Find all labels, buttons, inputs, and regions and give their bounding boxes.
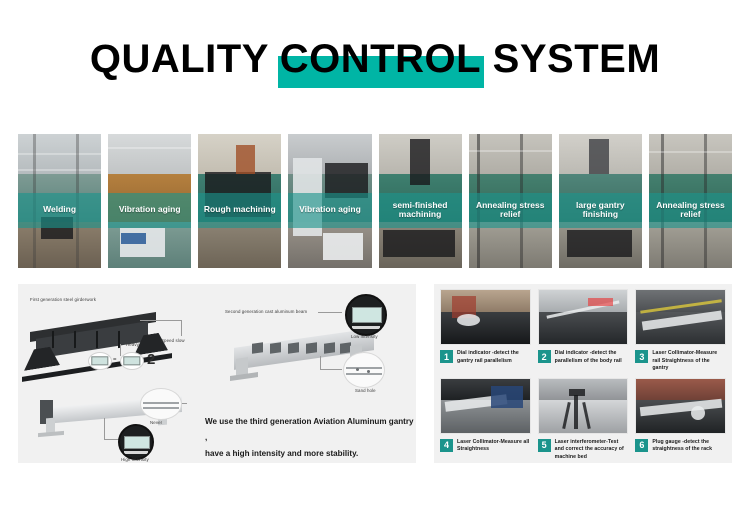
- photo-hoist: [410, 139, 430, 185]
- photo-caption: Vibration aging: [296, 205, 364, 215]
- photo-caption: Annealing stress relief: [649, 201, 732, 221]
- sand-hole-closeup: [343, 352, 385, 388]
- title-before: QUALITY: [90, 37, 280, 81]
- gen1-leader-line: [120, 344, 121, 356]
- process-photo-large-gantry-finishing[interactable]: large gantry finishing: [559, 134, 642, 268]
- rail-line: [143, 402, 180, 404]
- laptop-screen: [491, 386, 523, 408]
- plug-gauge: [691, 406, 705, 420]
- gen1-callout-heavy: Heavy: [126, 342, 139, 348]
- beam-window: [252, 342, 263, 354]
- photo-truss: [649, 151, 732, 153]
- photo-caption-band: Vibration aging: [108, 193, 191, 228]
- photo-marker: [588, 298, 613, 307]
- photo-caption: Annealing stress relief: [469, 201, 552, 221]
- gen3-callout-never: Never: [150, 420, 162, 426]
- inspection-item-2[interactable]: 2 Dial indicator -detect the parallelism…: [538, 289, 629, 373]
- photo-caption: semi-finished machining: [379, 201, 462, 221]
- photo-truss: [18, 153, 101, 155]
- process-photo-annealing-1[interactable]: Annealing stress relief: [469, 134, 552, 268]
- title-after: SYSTEM: [481, 37, 660, 81]
- photo-floor: [469, 222, 552, 268]
- title-highlight: CONTROL: [280, 39, 481, 79]
- inspection-photo-6: [635, 378, 726, 434]
- inspection-badge-3: 3: [635, 350, 648, 363]
- photo-caption-band: Annealing stress relief: [649, 193, 732, 228]
- gantry-rib: [52, 331, 54, 348]
- beam-window: [306, 342, 317, 354]
- photo-caption-band: semi-finished machining: [379, 193, 462, 228]
- gauge-screen: [91, 356, 108, 365]
- inspection-badge-6: 6: [635, 439, 648, 452]
- inspection-text-2: Dial indicator -detect the parallelism o…: [555, 350, 629, 365]
- process-photo-vibration-aging-1[interactable]: Vibration aging: [108, 134, 191, 268]
- inspection-caption-5: 5 Laser interferometer-Test and correct …: [538, 439, 629, 462]
- gauge-screen: [124, 436, 149, 450]
- dial-indicator: [457, 314, 480, 326]
- equals-symbol: =: [113, 357, 117, 363]
- gen1-label: First generation steel girderwork: [30, 297, 96, 303]
- gen1-callout-speed: Speed slow: [161, 338, 185, 344]
- photo-caption: large gantry finishing: [559, 201, 642, 221]
- inspection-text-4: Laser Collimator-Measure all Straightnes…: [457, 439, 531, 454]
- beam-window: [324, 342, 335, 354]
- inspection-badge-5: 5: [538, 439, 551, 452]
- photo-caption: Rough machining: [201, 205, 279, 215]
- photo-caption-band: Welding: [18, 193, 101, 228]
- inspection-item-4[interactable]: 4 Laser Collimator-Measure all Straightn…: [440, 378, 531, 462]
- photo-machine-head: [236, 145, 254, 174]
- inspection-text-3: Laser Collimator-Measure rail Straightne…: [652, 350, 726, 373]
- inspection-item-5[interactable]: 5 Laser interferometer-Test and correct …: [538, 378, 629, 462]
- inspection-caption-2: 2 Dial indicator -detect the parallelism…: [538, 350, 629, 365]
- inspection-item-6[interactable]: 6 Plug gauge -detect the straightness of…: [635, 378, 726, 462]
- beam-pad-left: [230, 372, 258, 381]
- process-photo-rough-machining[interactable]: Rough machining: [198, 134, 281, 268]
- photo-truss: [18, 169, 101, 171]
- gauge-high-intensity: [118, 424, 154, 460]
- gantry-summary-line-1: We use the third generation Aviation Alu…: [205, 414, 415, 446]
- photo-upper: [636, 379, 725, 402]
- sand-hole-dot: [356, 368, 359, 371]
- gauge-screen: [352, 307, 381, 323]
- inspection-item-1[interactable]: 1 Dial indicator -detect the gantry rail…: [440, 289, 531, 373]
- photo-caption-band: Rough machining: [198, 193, 281, 228]
- inspection-photo-4: [440, 378, 531, 434]
- process-photo-vibration-aging-2[interactable]: Vibration aging: [288, 134, 371, 268]
- beam-window: [288, 342, 299, 354]
- inspection-photo-2: [538, 289, 629, 345]
- multiplier-label: 2: [147, 351, 155, 368]
- gen3-callout-high-intensity: High intensity: [121, 457, 149, 463]
- gantry-summary-line-2: have a high intensity and more stability…: [205, 446, 415, 462]
- page-header: QUALITY CONTROL SYSTEM: [0, 0, 750, 118]
- inspection-photo-3: [635, 289, 726, 345]
- photo-frame: [383, 230, 454, 257]
- inspection-text-5: Laser interferometer-Test and correct th…: [555, 439, 629, 462]
- title-highlight-text: CONTROL: [280, 37, 481, 81]
- photo-machine: [323, 233, 363, 260]
- photo-caption: Welding: [40, 205, 79, 215]
- gen2-label: Second generation cast aluminum beam: [225, 309, 307, 315]
- rail-line: [346, 373, 383, 375]
- process-photo-annealing-2[interactable]: Annealing stress relief: [649, 134, 732, 268]
- gen2-callout-low-intensity: Low intensity: [351, 334, 378, 340]
- gauge-screen: [123, 356, 140, 365]
- inspection-caption-1: 1 Dial indicator -detect the gantry rail…: [440, 350, 531, 365]
- inspection-badge-1: 1: [440, 350, 453, 363]
- photo-caption-band: large gantry finishing: [559, 193, 642, 228]
- rail-closeup-no-defect: [140, 388, 182, 420]
- inspection-item-3[interactable]: 3 Laser Collimator-Measure rail Straight…: [635, 289, 726, 373]
- photo-gantry: [567, 230, 632, 257]
- photo-caption-band: Annealing stress relief: [469, 193, 552, 228]
- interferometer-head: [569, 389, 585, 395]
- photo-truss: [469, 150, 552, 152]
- gen1-leader-line: [181, 320, 182, 336]
- inspection-text-1: Dial indicator -detect the gantry rail p…: [457, 350, 531, 365]
- process-photo-strip: Welding Vibration aging Rough machining …: [18, 134, 732, 268]
- inspection-badge-4: 4: [440, 439, 453, 452]
- gen2-callout-sand-hole: Sand hole: [355, 388, 376, 394]
- photo-caption-band: Vibration aging: [288, 193, 371, 228]
- tripod-leg: [574, 395, 578, 430]
- inspection-photo-5: [538, 378, 629, 434]
- inspection-caption-6: 6 Plug gauge -detect the straightness of…: [635, 439, 726, 454]
- beam-pad-left: [38, 431, 64, 437]
- beam-window: [270, 342, 281, 354]
- inspection-photo-1: [440, 289, 531, 345]
- inspection-caption-3: 3 Laser Collimator-Measure rail Straight…: [635, 350, 726, 373]
- gen3-leader-line: [104, 418, 105, 440]
- rail-line: [346, 367, 383, 369]
- inspection-grid: 1 Dial indicator -detect the gantry rail…: [440, 289, 726, 458]
- gauge-small-left: [88, 352, 112, 370]
- page-title: QUALITY CONTROL SYSTEM: [90, 39, 660, 79]
- gauge-low-intensity: [345, 294, 387, 336]
- gantry-rib: [96, 331, 98, 348]
- photo-hoist: [589, 139, 609, 174]
- photo-machine-screen: [121, 233, 146, 244]
- gen2-leader-line: [318, 312, 342, 313]
- photo-truss: [108, 147, 191, 149]
- rail-line: [143, 407, 180, 409]
- inspection-text-6: Plug gauge -detect the straightness of t…: [652, 439, 726, 454]
- inspection-badge-2: 2: [538, 350, 551, 363]
- gantry-rib: [74, 331, 76, 348]
- gauge-tick: [124, 451, 148, 454]
- gauge-tick: [352, 326, 381, 329]
- inspection-caption-4: 4 Laser Collimator-Measure all Straightn…: [440, 439, 531, 454]
- gen1-leader-line: [140, 320, 182, 321]
- process-photo-welding[interactable]: Welding: [18, 134, 101, 268]
- gantry-summary-text: We use the third generation Aviation Alu…: [205, 414, 415, 461]
- photo-caption: Vibration aging: [116, 205, 184, 215]
- gen2-leader-line: [320, 369, 342, 370]
- gauge-small-right: [120, 352, 144, 370]
- photo-floor: [198, 222, 281, 268]
- gen2-leader-line: [320, 356, 321, 370]
- process-photo-semi-finished-machining[interactable]: semi-finished machining: [379, 134, 462, 268]
